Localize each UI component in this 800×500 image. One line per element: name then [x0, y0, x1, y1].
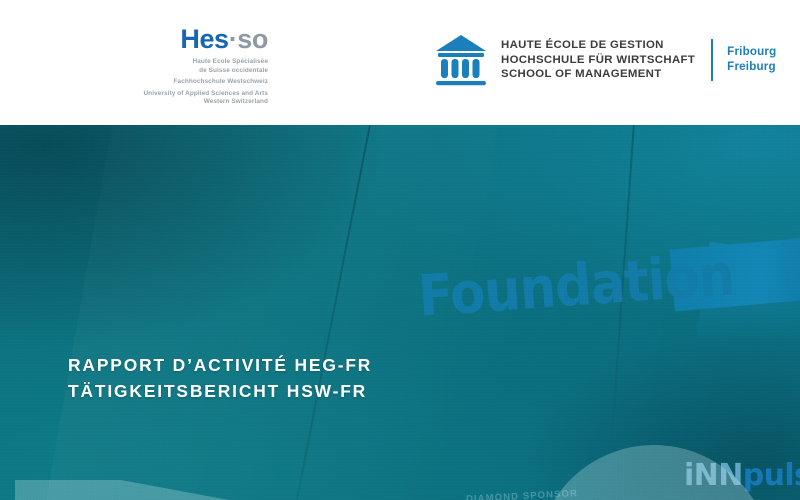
hesso-subtitle: Haute Ecole Spécialisée de Suisse occide… [68, 58, 268, 107]
hesso-subtitle-line-5: Western Switzerland [68, 98, 268, 107]
banner-texture-overlay [0, 125, 800, 500]
heg-city-block: Fribourg Freiburg [727, 45, 776, 74]
page-title-line-fr: RAPPORT D’ACTIVITÉ HEG-FR [68, 353, 372, 379]
hesso-subtitle-line-4: University of Applied Sciences and Arts [68, 90, 268, 99]
heg-name-en: SCHOOL OF MANAGEMENT [501, 67, 695, 82]
hesso-subtitle-line-2: de Suisse occidentale [68, 67, 268, 76]
heg-name-de: HOCHSCHULE FÜR WIRTSCHAFT [501, 53, 695, 68]
heg-name-fr: HAUTE ÉCOLE DE GESTION [501, 38, 695, 53]
header-bar: Hes·so Haute Ecole Spécialisée de Suisse… [0, 0, 800, 125]
heg-city-fribourg: Fribourg [727, 45, 776, 60]
hero-banner: Foundation iNNpulsa Colombia DIAMOND SPO… [0, 125, 800, 500]
hesso-subtitle-line-3: Fachhochschule Westschweiz [68, 78, 268, 87]
heg-name-block: HAUTE ÉCOLE DE GESTION HOCHSCHULE FÜR WI… [501, 38, 695, 82]
logo-divider [711, 39, 713, 81]
temple-building-icon [434, 32, 488, 88]
hesso-wordmark-hes: Hes [180, 24, 228, 54]
heg-city-freiburg: Freiburg [727, 60, 776, 75]
hesso-logo[interactable]: Hes·so Haute Ecole Spécialisée de Suisse… [68, 26, 268, 107]
hesso-subtitle-line-1: Haute Ecole Spécialisée [68, 58, 268, 67]
hesso-wordmark: Hes·so [68, 26, 268, 53]
page-title: RAPPORT D’ACTIVITÉ HEG-FR TÄTIGKEITSBERI… [68, 353, 372, 404]
poster-page: Hes·so Haute Ecole Spécialisée de Suisse… [0, 0, 800, 500]
heg-fr-logo[interactable]: HAUTE ÉCOLE DE GESTION HOCHSCHULE FÜR WI… [434, 27, 776, 93]
page-title-line-de: TÄTIGKEITSBERICHT HSW-FR [68, 379, 372, 405]
hesso-wordmark-so: ·so [229, 24, 268, 54]
